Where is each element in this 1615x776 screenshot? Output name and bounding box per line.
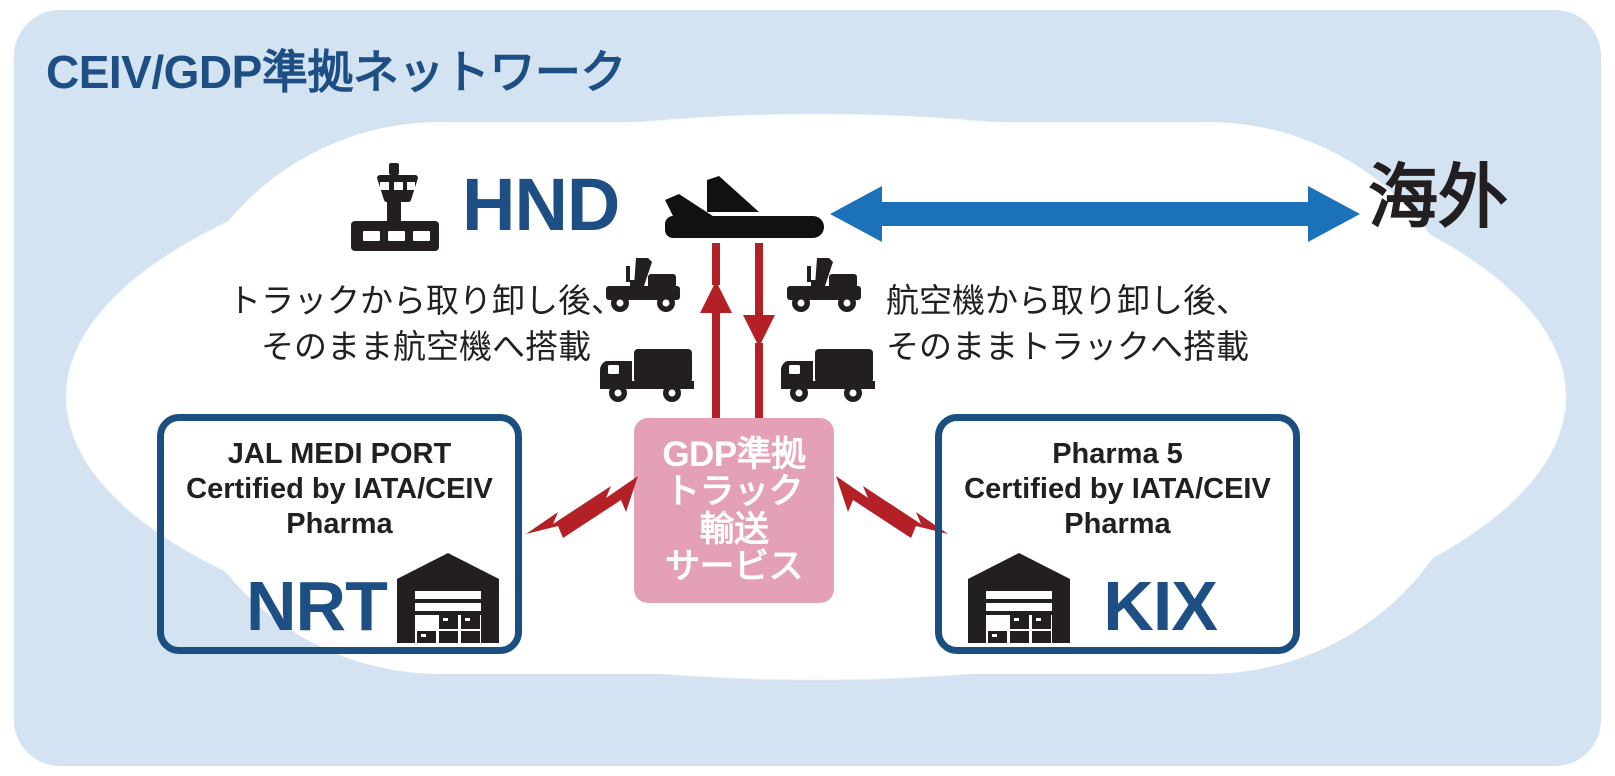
airplane-icon [655,172,835,244]
facility-nrt-cert-line1: Certified by IATA/CEIV [164,472,515,507]
warehouse-icon [395,551,501,643]
facility-nrt-name: JAL MEDI PORT [164,437,515,472]
service-line-4: サービス [665,548,803,585]
page-title: CEIV/GDP準拠ネットワーク [46,36,626,102]
airport-tug-icon [781,256,867,314]
arrow-up-icon [693,243,739,418]
facility-kix-name: Pharma 5 [942,437,1293,472]
caption-right: 航空機から取り卸し後、 そのままトラックへ搭載 [886,278,1249,369]
facility-kix-cert-line2: Pharma [942,507,1293,542]
caption-left: トラックから取り卸し後、 そのまま航空機へ搭載 [228,278,624,369]
control-tower-icon [345,163,445,251]
caption-right-line2: そのままトラックへ搭載 [886,324,1249,370]
service-line-1: GDP準拠 [662,436,805,473]
service-line-2: トラック [665,473,803,510]
facility-kix-heading: Pharma 5 Certified by IATA/CEIV Pharma [942,437,1293,541]
box-truck-icon [600,345,694,403]
airport-tug-icon [600,256,686,314]
caption-left-line1: トラックから取り卸し後、 [228,278,624,324]
caption-left-line2: そのまま航空機へ搭載 [228,324,624,370]
box-truck-icon [781,345,875,403]
diagram-canvas: CEIV/GDP準拠ネットワーク HND [0,0,1615,776]
facility-kix-cert-line1: Certified by IATA/CEIV [942,472,1293,507]
service-line-3: 輸送 [699,511,768,548]
facility-kix-code: KIX [1103,571,1217,641]
warehouse-icon [966,551,1072,643]
facility-nrt-heading: JAL MEDI PORT Certified by IATA/CEIV Pha… [164,437,515,541]
double-arrow-horizontal-icon [830,186,1360,242]
double-arrow-diagonal-icon [522,472,642,538]
hub-airport-code: HND [462,168,619,242]
facility-nrt-code: NRT [246,571,387,641]
facility-box-nrt[interactable]: JAL MEDI PORT Certified by IATA/CEIV Pha… [157,414,522,654]
arrow-down-icon [736,243,782,418]
caption-right-line1: 航空機から取り卸し後、 [886,278,1249,324]
double-arrow-diagonal-icon [832,472,952,538]
gdp-truck-service-box: GDP準拠 トラック 輸送 サービス [634,418,834,603]
overseas-label: 海外 [1368,162,1508,232]
facility-nrt-cert-line2: Pharma [164,507,515,542]
facility-box-kix[interactable]: Pharma 5 Certified by IATA/CEIV Pharma [935,414,1300,654]
